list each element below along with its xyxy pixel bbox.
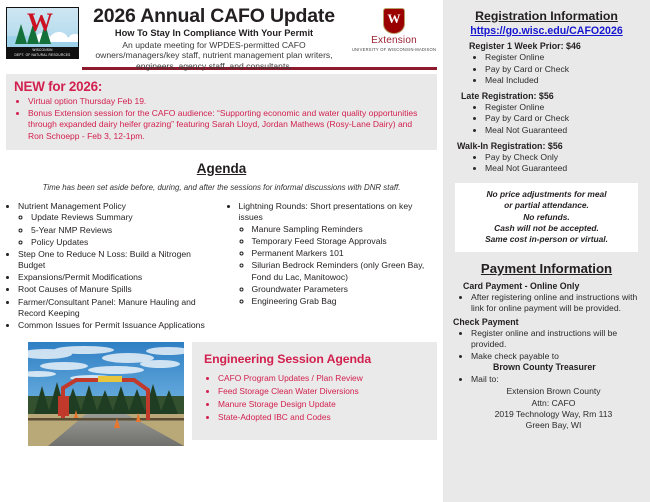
agenda-column-left: Nutrient Management Policy Update Review… xyxy=(4,201,219,333)
engineering-list: CAFO Program Updates / Plan Review Feed … xyxy=(204,372,427,423)
card-payment-list: After registering online and instruction… xyxy=(451,292,642,315)
address-line: 2019 Technology Way, Rm 113 xyxy=(465,409,642,420)
list-item: Lightning Rounds: Short presentations on… xyxy=(239,201,440,308)
list-item: Pay by Card or Check xyxy=(485,64,642,76)
list-item: Meal Included xyxy=(485,75,642,87)
registration-tier: Register 1 Week Prior: $46 Register Onli… xyxy=(451,41,642,87)
new-for-2026-panel: NEW for 2026: Virtual option Thursday Fe… xyxy=(6,74,437,150)
extension-wordmark: Extension xyxy=(349,35,439,46)
right-sidebar: Registration Information https://go.wisc… xyxy=(443,0,650,502)
list-item: Register Online xyxy=(485,52,642,64)
list-item: 5-Year NMP Reviews xyxy=(31,225,219,237)
extension-subtext: UNIVERSITY OF WISCONSIN-MADISON xyxy=(349,47,439,52)
list-item: Manure Storage Design Update xyxy=(218,398,427,411)
list-item: Manure Sampling Reminders xyxy=(252,224,440,236)
tier-list: Register Online Pay by Card or Check Mea… xyxy=(451,52,642,87)
photo-illustration xyxy=(28,342,184,446)
engineering-session-panel: Engineering Session Agenda CAFO Program … xyxy=(192,342,437,440)
list-item: Common Issues for Permit Issuance Applic… xyxy=(18,320,219,332)
notice-line: Same cost in-person or virtual. xyxy=(459,234,634,245)
logo-caption-line-2: DEPT. OF NATURAL RESOURCES xyxy=(7,53,78,58)
notice-line: No refunds. xyxy=(459,212,634,223)
list-item: Silurian Bedrock Reminders (only Green B… xyxy=(252,260,440,283)
list-item: Update Reviews Summary xyxy=(31,212,219,224)
agenda-sublist: Manure Sampling Reminders Temporary Feed… xyxy=(239,224,440,308)
list-item: Meal Not Guaranteed xyxy=(485,125,642,137)
list-item: Step One to Reduce N Loss: Build a Nitro… xyxy=(18,249,219,272)
registration-url-link[interactable]: https://go.wisc.edu/CAFO2026 xyxy=(451,25,642,37)
uw-extension-logo-icon: Extension UNIVERSITY OF WISCONSIN-MADISO… xyxy=(349,4,439,52)
list-item: Groundwater Parameters xyxy=(252,284,440,296)
page-title: 2026 Annual CAFO Update xyxy=(83,6,345,27)
wisconsin-dnr-logo-icon: W WISCONSIN DEPT. OF NATURAL RESOURCES xyxy=(6,7,79,59)
left-column: W WISCONSIN DEPT. OF NATURAL RESOURCES 2… xyxy=(0,0,443,502)
list-item: Feed Storage Clean Water Diversions xyxy=(218,385,427,398)
list-item: Meal Not Guaranteed xyxy=(485,163,642,175)
notice-line: Cash will not be accepted. xyxy=(459,223,634,234)
mailing-address: Extension Brown County Attn: CAFO 2019 T… xyxy=(451,386,642,432)
flyer-header: W WISCONSIN DEPT. OF NATURAL RESOURCES 2… xyxy=(0,0,443,66)
list-item: Engineering Grab Bag xyxy=(252,296,440,308)
tier-title: Register 1 Week Prior: $46 xyxy=(451,41,642,51)
address-line: Attn: CAFO xyxy=(465,398,642,409)
check-payment-title: Check Payment xyxy=(451,317,642,327)
agenda-sublist: Update Reviews Summary 5-Year NMP Review… xyxy=(18,212,219,248)
agenda-columns: Nutrient Management Policy Update Review… xyxy=(0,201,443,333)
list-item: Farmer/Consultant Panel: Manure Hauling … xyxy=(18,297,219,320)
tier-title: Late Registration: $56 xyxy=(451,91,642,101)
list-item: Bonus Extension session for the CAFO aud… xyxy=(28,108,429,142)
list-item-label: Lightning Rounds: Short presentations on… xyxy=(239,201,413,223)
address-line: Green Bay, WI xyxy=(465,420,642,431)
list-item-label: Nutrient Management Policy xyxy=(18,201,126,211)
list-item: Virtual option Thursday Feb 19. xyxy=(28,96,429,107)
agenda-note: Time has been set aside before, during, … xyxy=(8,183,435,192)
flyer-page: W WISCONSIN DEPT. OF NATURAL RESOURCES 2… xyxy=(0,0,650,502)
list-item: CAFO Program Updates / Plan Review xyxy=(218,372,427,385)
uw-crest-icon xyxy=(383,8,405,34)
list-item: Nutrient Management Policy Update Review… xyxy=(18,201,219,248)
list-item-label: Make check payable to xyxy=(471,351,559,361)
agenda-list-right: Lightning Rounds: Short presentations on… xyxy=(225,201,440,308)
address-line: Extension Brown County xyxy=(465,386,642,397)
list-item: Mail to: xyxy=(471,374,642,385)
list-item: Permanent Markers 101 xyxy=(252,248,440,260)
tier-title: Walk-In Registration: $56 xyxy=(451,141,642,151)
payee-name: Brown County Treasurer xyxy=(471,362,642,373)
tier-list: Register Online Pay by Card or Check Mea… xyxy=(451,102,642,137)
list-item: Pay by Check Only xyxy=(485,152,642,164)
logo-w-mark: W xyxy=(27,10,51,36)
list-item: Root Causes of Manure Spills xyxy=(18,284,219,296)
registration-tier: Late Registration: $56 Register Online P… xyxy=(451,91,642,137)
list-item: State-Adopted IBC and Codes xyxy=(218,411,427,424)
new-for-2026-list: Virtual option Thursday Feb 19. Bonus Ex… xyxy=(14,96,429,142)
registration-tier: Walk-In Registration: $56 Pay by Check O… xyxy=(451,141,642,175)
pricing-notice-box: No price adjustments for meal or partial… xyxy=(455,183,638,252)
notice-line: or partial attendance. xyxy=(459,200,634,211)
new-for-2026-heading: NEW for 2026: xyxy=(14,79,429,94)
tier-list: Pay by Check Only Meal Not Guaranteed xyxy=(451,152,642,175)
list-item: Policy Updates xyxy=(31,237,219,249)
card-payment-title: Card Payment - Online Only xyxy=(451,281,642,291)
notice-line: No price adjustments for meal xyxy=(459,189,634,200)
logo-caption: WISCONSIN DEPT. OF NATURAL RESOURCES xyxy=(7,47,78,58)
list-item: Make check payable to Brown County Treas… xyxy=(471,351,642,374)
bottom-row: Engineering Session Agenda CAFO Program … xyxy=(0,342,443,446)
page-blurb: An update meeting for WPDES-permitted CA… xyxy=(83,40,345,71)
manure-pump-photo xyxy=(28,342,184,446)
list-item: After registering online and instruction… xyxy=(471,292,642,315)
agenda-heading: Agenda xyxy=(0,161,443,176)
payment-heading: Payment Information xyxy=(451,261,642,276)
agenda-column-right: Lightning Rounds: Short presentations on… xyxy=(225,201,440,333)
list-item: Register Online xyxy=(485,102,642,114)
list-item: Register online and instructions will be… xyxy=(471,328,642,351)
registration-heading: Registration Information xyxy=(451,9,642,23)
title-block: 2026 Annual CAFO Update How To Stay In C… xyxy=(79,4,349,71)
engineering-heading: Engineering Session Agenda xyxy=(204,352,427,366)
list-item: Pay by Card or Check xyxy=(485,113,642,125)
agenda-list-left: Nutrient Management Policy Update Review… xyxy=(4,201,219,332)
page-subtitle: How To Stay In Compliance With Your Perm… xyxy=(83,28,345,39)
list-item: Temporary Feed Storage Approvals xyxy=(252,236,440,248)
logo-tree-icon xyxy=(15,24,27,44)
check-payment-list: Register online and instructions will be… xyxy=(451,328,642,386)
list-item: Expansions/Permit Modifications xyxy=(18,272,219,284)
